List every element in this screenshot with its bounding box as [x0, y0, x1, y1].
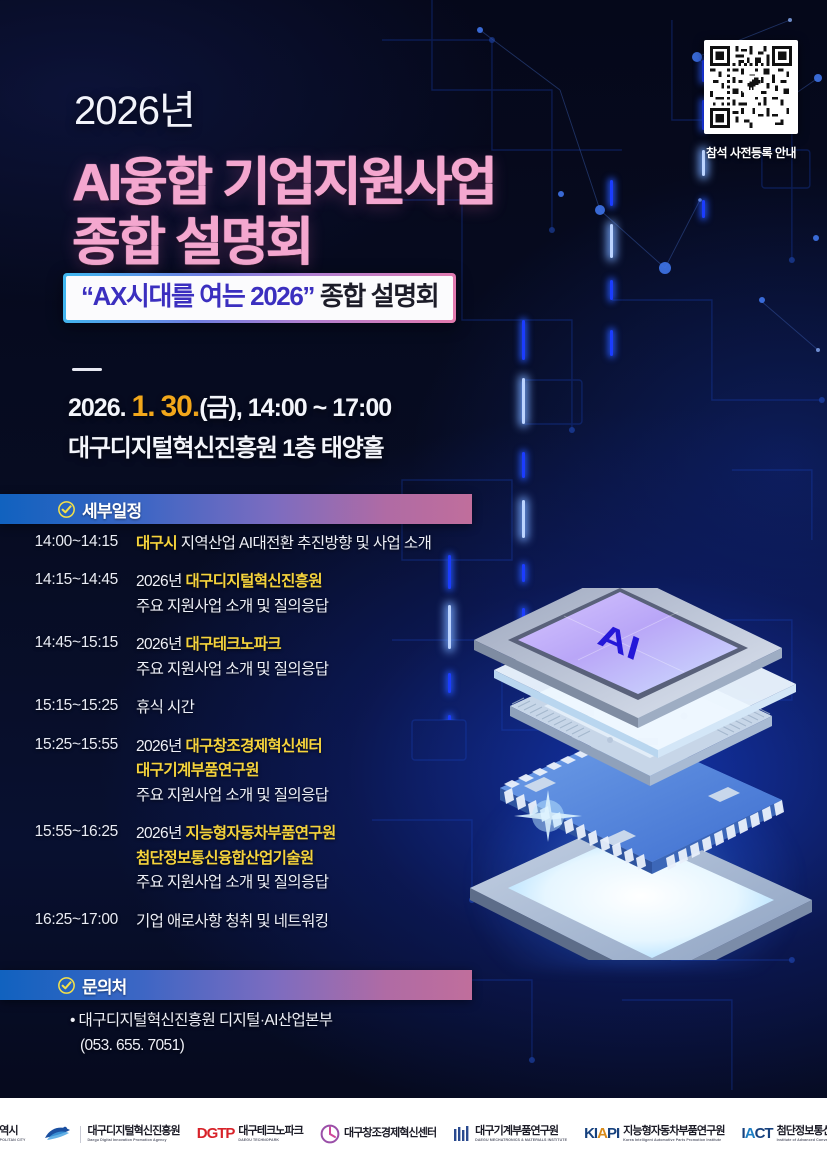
schedule-time: 16:25~17:00: [0, 910, 118, 934]
schedule-line: 주요 지원사업 소개 및 질의응답: [136, 784, 328, 808]
footer-logo-name-en: DAEGU METROPOLITAN CITY: [0, 1138, 26, 1142]
schedule-line-text: 주요 지원사업 소개 및 질의응답: [136, 598, 328, 615]
footer-logo-name-ko: 지능형자동차부품연구원: [623, 1126, 724, 1138]
date-month: 1.: [132, 390, 155, 423]
footer-logo-name-ko: 첨단정보통신융합산업기술원: [777, 1126, 827, 1138]
schedule-row: 14:15~14:452026년 대구디지털혁신진흥원주요 지원사업 소개 및 …: [0, 570, 500, 619]
schedule-line-text: 지역산업 AI대전환 추진방향 및 사업 소개: [177, 535, 431, 552]
schedule-row: 15:25~15:552026년 대구창조경제혁신센터대구기계부품연구원주요 지…: [0, 735, 500, 808]
poster-title-line2: 종합 설명회: [72, 200, 311, 275]
footer-logo-name-ko: 대구테크노파크: [238, 1126, 303, 1138]
schedule-row: 14:00~14:15대구시 지역산업 AI대전환 추진방향 및 사업 소개: [0, 532, 500, 556]
schedule-line-lead: 2026년: [136, 738, 185, 755]
schedule-time: 14:45~15:15: [0, 633, 118, 682]
ccei-circle-icon: [320, 1124, 340, 1144]
schedule-line: 주요 지원사업 소개 및 질의응답: [136, 871, 336, 895]
schedule-line-highlight: 첨단정보통신융합산업기술원: [136, 850, 314, 867]
qr-code[interactable]: [704, 40, 798, 134]
schedule-line-text: 기업 애로사항 청취 및 네트워킹: [136, 913, 328, 930]
contact-section-header: 문의처: [0, 970, 472, 1000]
schedule-line-text: 휴식 시간: [136, 699, 194, 716]
schedule-line: 첨단정보통신융합산업기술원: [136, 847, 336, 871]
schedule-row: 15:15~15:25휴식 시간: [0, 696, 500, 720]
footer-logo-name-ko: 대구광역시: [0, 1126, 26, 1138]
dgtp-wordmark-icon: DGTP: [197, 1126, 235, 1141]
iact-wordmark-icon: IACT: [742, 1126, 773, 1141]
event-datetime: 2026. 1. 30.(금), 14:00 ~ 17:00: [68, 388, 391, 424]
footer-logo: IACT첨단정보통신융합산업기술원Institute of Advanced C…: [742, 1126, 827, 1142]
footer-logo-name-en: Daegu Digital Innovation Promotion Agenc…: [88, 1138, 180, 1142]
footer-logo: KIAPI지능형자동차부품연구원Korea Intelligent Automo…: [584, 1126, 724, 1142]
event-poster: AI 2026년 AI융합 기업지원사업 종합 설명회 “AX시대를 여는 20…: [0, 0, 827, 1170]
qr-code-image: [710, 46, 792, 128]
schedule-description: 2026년 대구창조경제혁신센터대구기계부품연구원주요 지원사업 소개 및 질의…: [136, 735, 328, 808]
schedule-time: 14:00~14:15: [0, 532, 118, 556]
schedule-line: 대구시 지역산업 AI대전환 추진방향 및 사업 소개: [136, 532, 431, 556]
schedule-time: 14:15~14:45: [0, 570, 118, 619]
ai-chip-illustration: AI: [452, 588, 827, 960]
footer-logo-bar: DAEGU대구광역시DAEGU METROPOLITAN CITY대구디지털혁신…: [0, 1098, 827, 1170]
schedule-list: 14:00~14:15대구시 지역산업 AI대전환 추진방향 및 사업 소개14…: [0, 532, 500, 948]
dinosaur-logo-icon: [743, 76, 761, 93]
schedule-time: 15:15~15:25: [0, 696, 118, 720]
schedule-description: 기업 애로사항 청취 및 네트워킹: [136, 910, 328, 934]
schedule-line-lead: 2026년: [136, 636, 185, 653]
schedule-line: 주요 지원사업 소개 및 질의응답: [136, 658, 328, 682]
footer-logo-name-en: DAEGU TECHNOPARK: [238, 1138, 303, 1142]
schedule-row: 16:25~17:00기업 애로사항 청취 및 네트워킹: [0, 910, 500, 934]
schedule-line: 2026년 대구디지털혁신진흥원: [136, 570, 328, 594]
event-venue: 대구디지털혁신진흥원 1층 태양홀: [68, 428, 383, 463]
footer-logo: DGTP대구테크노파크DAEGU TECHNOPARK: [197, 1126, 303, 1142]
poster-year: 2026년: [74, 78, 195, 136]
schedule-line-highlight: 지능형자동차부품연구원: [185, 825, 335, 842]
schedule-line-highlight: 대구디지털혁신진흥원: [185, 573, 322, 590]
contact-line-1: • 대구디지털혁신진흥원 디지털·AI산업본부: [70, 1008, 500, 1033]
schedule-line-text: 주요 지원사업 소개 및 질의응답: [136, 787, 328, 804]
schedule-line-highlight: 대구시: [136, 535, 177, 552]
footer-logo: DAEGU대구광역시DAEGU METROPOLITAN CITY: [0, 1123, 26, 1145]
schedule-row: 15:55~16:252026년 지능형자동차부품연구원첨단정보통신융합산업기술…: [0, 822, 500, 895]
schedule-row: 14:45~15:152026년 대구테크노파크주요 지원사업 소개 및 질의응…: [0, 633, 500, 682]
footer-logo: 대구기계부품연구원DAEGU MECHATRONICS & MATERIALS …: [453, 1125, 567, 1143]
schedule-line: 휴식 시간: [136, 696, 194, 720]
schedule-line-highlight: 대구테크노파크: [185, 636, 281, 653]
schedule-description: 대구시 지역산업 AI대전환 추진방향 및 사업 소개: [136, 532, 431, 556]
footer-logo: 대구창조경제혁신센터: [320, 1124, 436, 1144]
qr-caption: 참석 사전등록 안내: [690, 144, 812, 161]
footer-logo: 대구디지털혁신진흥원Daegu Digital Innovation Promo…: [43, 1124, 180, 1144]
schedule-description: 2026년 지능형자동차부품연구원첨단정보통신융합산업기술원주요 지원사업 소개…: [136, 822, 336, 895]
schedule-description: 2026년 대구테크노파크주요 지원사업 소개 및 질의응답: [136, 633, 328, 682]
check-circle-icon: [58, 501, 75, 518]
schedule-description: 휴식 시간: [136, 696, 194, 720]
schedule-time: 15:55~16:25: [0, 822, 118, 895]
schedule-description: 2026년 대구디지털혁신진흥원주요 지원사업 소개 및 질의응답: [136, 570, 328, 619]
badge-quote-text: “AX시대를 여는 2026”: [81, 281, 314, 311]
schedule-line-highlight: 대구창조경제혁신센터: [185, 738, 322, 755]
schedule-time: 15:25~15:55: [0, 735, 118, 808]
schedule-line: 2026년 대구테크노파크: [136, 633, 328, 657]
badge-rest-text: 종합 설명회: [314, 281, 438, 311]
contact-line-2: (053. 655. 7051): [80, 1033, 500, 1058]
footer-logo-name-en: DAEGU MECHATRONICS & MATERIALS INSTITUTE: [475, 1138, 567, 1142]
date-prefix: 2026.: [68, 394, 132, 422]
schedule-line-text: 주요 지원사업 소개 및 질의응답: [136, 661, 328, 678]
footer-logo-name-ko: 대구디지털혁신진흥원: [88, 1126, 180, 1138]
schedule-line-lead: 2026년: [136, 573, 185, 590]
date-suffix: (금), 14:00 ~ 17:00: [199, 394, 391, 422]
schedule-line: 대구기계부품연구원: [136, 759, 328, 783]
check-circle-icon: [58, 977, 75, 994]
footer-logo-name-ko: 대구창조경제혁신센터: [344, 1128, 436, 1140]
contact-section-title: 문의처: [82, 973, 127, 998]
date-day: 30.: [161, 390, 200, 423]
footer-logo-name-ko: 대구기계부품연구원: [475, 1126, 567, 1138]
schedule-line: 주요 지원사업 소개 및 질의응답: [136, 595, 328, 619]
schedule-line-lead: 2026년: [136, 825, 185, 842]
schedule-section-header: 세부일정: [0, 494, 472, 524]
schedule-line-text: 주요 지원사업 소개 및 질의응답: [136, 874, 328, 891]
divider-rule: [72, 368, 102, 371]
schedule-line-highlight: 대구기계부품연구원: [136, 762, 259, 779]
schedule-line: 기업 애로사항 청취 및 네트워킹: [136, 910, 328, 934]
schedule-line: 2026년 대구창조경제혁신센터: [136, 735, 328, 759]
schedule-section-title: 세부일정: [82, 497, 141, 522]
schedule-line: 2026년 지능형자동차부품연구원: [136, 822, 336, 846]
footer-logo-name-en: Institute of Advanced Convergence Techno…: [777, 1138, 827, 1142]
logo-divider: [80, 1126, 81, 1143]
poster-subtitle-badge: “AX시대를 여는 2026” 종합 설명회: [63, 273, 456, 323]
dip-swoosh-icon: [43, 1124, 73, 1144]
contact-block: • 대구디지털혁신진흥원 디지털·AI산업본부 (053. 655. 7051): [0, 1008, 500, 1058]
footer-logo-name-en: Korea Intelligent Automotive Parts Promo…: [623, 1138, 724, 1142]
dmi-bars-icon: [453, 1125, 471, 1143]
kiapi-wordmark-icon: KIAPI: [584, 1126, 619, 1141]
